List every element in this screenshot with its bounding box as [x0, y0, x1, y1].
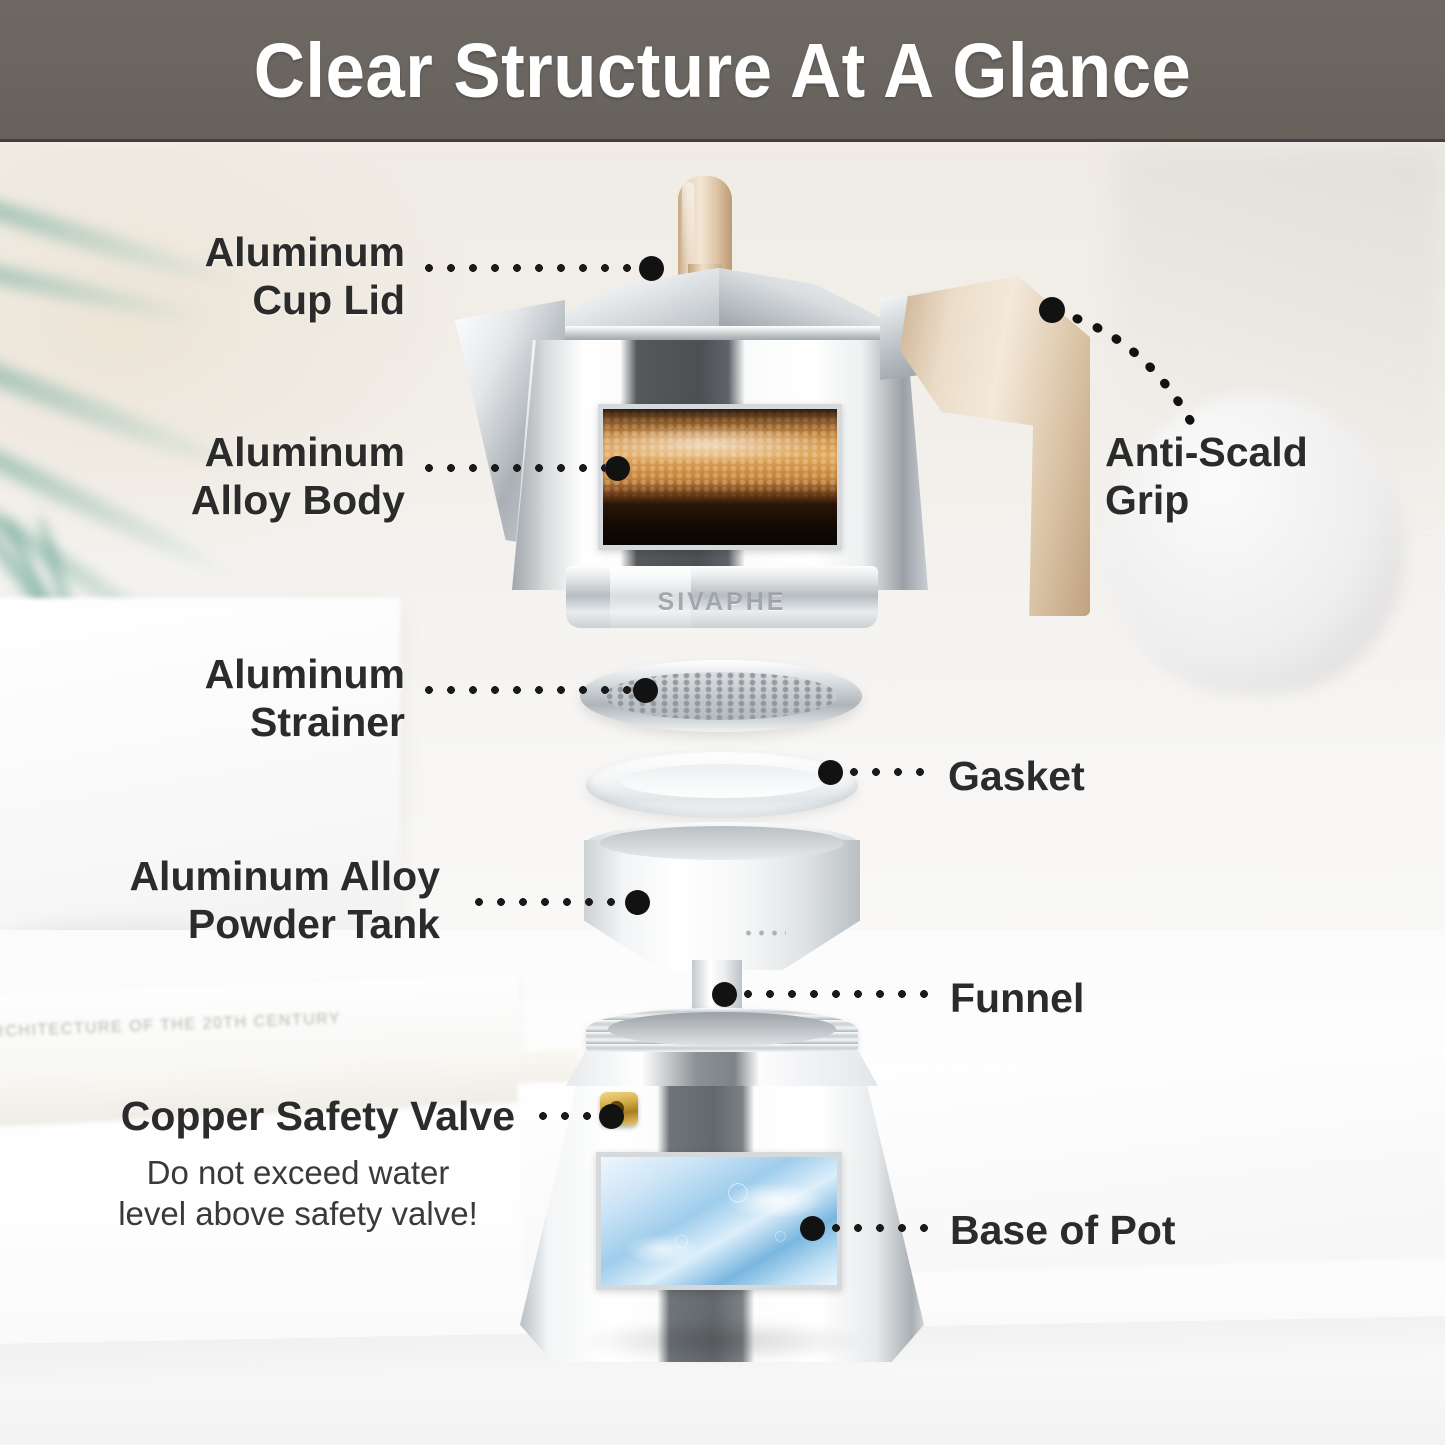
leader-end-dot	[712, 982, 737, 1007]
brand-logo-text: SIVAPHE	[566, 588, 878, 617]
callout-label-copper-safety-valve: Copper Safety Valve	[60, 1092, 515, 1140]
leader-aluminum-alloy-body	[418, 462, 630, 474]
leader-end-dot	[625, 890, 650, 915]
callout-label-funnel: Funnel	[950, 974, 1250, 1022]
leader-end-dot	[639, 256, 664, 281]
leader-dots	[418, 264, 639, 272]
leader-dots	[737, 990, 940, 998]
leader-funnel	[712, 988, 940, 1000]
callout-label-gasket: Gasket	[948, 752, 1268, 800]
leader-dots	[532, 1112, 599, 1120]
lid-facet-right	[719, 268, 904, 330]
base-opening	[608, 1012, 836, 1046]
leader-copper-safety-valve	[532, 1110, 624, 1122]
callout-label-aluminum-alloy-body: Aluminum Alloy Body	[70, 428, 405, 525]
leader-end-dot	[599, 1104, 624, 1129]
leader-end-dot	[800, 1216, 825, 1241]
base-top-facet	[566, 1052, 878, 1086]
callout-label-anti-scald-grip: Anti-Scald Grip	[1105, 428, 1435, 525]
leader-base-of-pot	[800, 1222, 936, 1234]
wooden-handle-arm	[900, 276, 1090, 616]
leader-dots	[825, 1224, 936, 1232]
powder-tank-vent-holes	[742, 930, 786, 936]
callout-label-base-of-pot: Base of Pot	[950, 1206, 1290, 1254]
infographic-canvas: ARCHITECTURE OF THE 20TH CENTURY Clear S…	[0, 0, 1445, 1445]
leader-end-dot	[605, 456, 630, 481]
coffee-crema-photo	[598, 404, 842, 550]
anti-scald-grip-part	[900, 276, 1090, 616]
safety-warning-text: Do not exceed water level above safety v…	[80, 1152, 516, 1235]
leader-dots	[418, 686, 633, 694]
base-contact-shadow	[520, 1320, 924, 1380]
leader-end-dot	[818, 760, 843, 785]
crema-image	[603, 409, 837, 545]
leader-aluminum-strainer	[418, 684, 658, 696]
leader-dots	[468, 898, 625, 906]
leader-dots	[843, 768, 930, 776]
callout-label-powder-tank: Aluminum Alloy Powder Tank	[20, 852, 440, 949]
callout-label-aluminum-strainer: Aluminum Strainer	[80, 650, 405, 747]
gasket-inner-hole	[620, 764, 824, 798]
leader-dots	[418, 464, 605, 472]
leader-end-dot	[633, 678, 658, 703]
leader-aluminum-cup-lid	[418, 262, 664, 274]
powder-tank-inner-cavity	[600, 826, 844, 860]
leader-powder-tank	[468, 896, 650, 908]
callout-label-aluminum-cup-lid: Aluminum Cup Lid	[90, 228, 405, 325]
leader-gasket	[818, 766, 930, 778]
